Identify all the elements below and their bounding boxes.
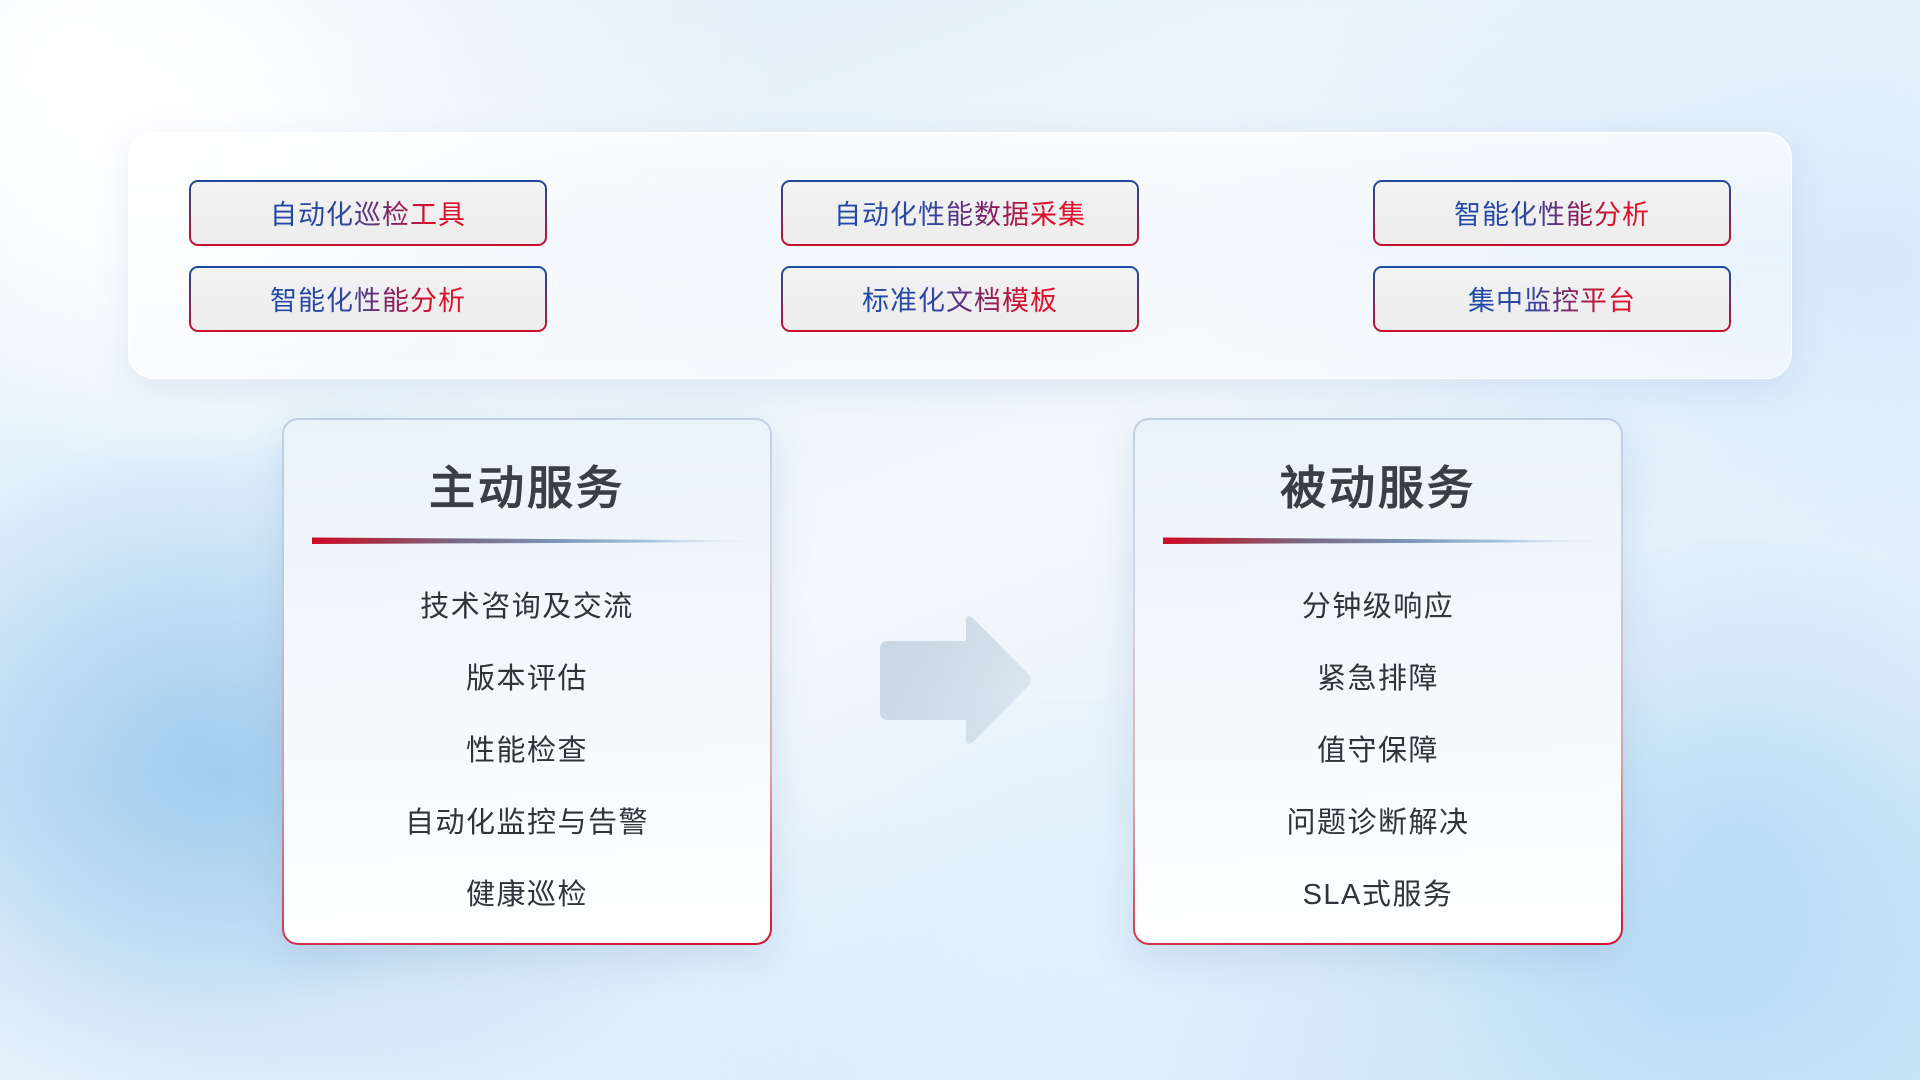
pill-surface: 自动化巡检工具 <box>191 182 545 244</box>
card-title: 主动服务 <box>429 452 625 518</box>
list-item: 性能检查 <box>466 715 588 787</box>
capability-row-1: 自动化巡检工具 自动化性能数据采集 智能化性能分析 <box>189 180 1731 246</box>
list-item: 紧急排障 <box>1317 643 1439 715</box>
list-item: 值守保障 <box>1317 715 1439 787</box>
list-item: 版本评估 <box>466 643 588 715</box>
capability-pill-label: 智能化性能分析 <box>270 279 466 318</box>
card-item-list: 技术咨询及交流 版本评估 性能检查 自动化监控与告警 健康巡检 <box>284 571 770 931</box>
capability-pill-label: 自动化巡检工具 <box>270 193 466 232</box>
capability-row-2: 智能化性能分析 标准化文档模板 集中监控平台 <box>189 266 1731 332</box>
pill-surface: 集中监控平台 <box>1375 268 1729 330</box>
pill-surface: 标准化文档模板 <box>783 268 1137 330</box>
pill-surface: 智能化性能分析 <box>1375 182 1729 244</box>
pill-surface: 智能化性能分析 <box>191 268 545 330</box>
list-item: 自动化监控与告警 <box>405 787 649 859</box>
card-surface: 被动服务 <box>1135 420 1621 943</box>
service-card-proactive[interactable]: 主动服务 <box>282 418 772 945</box>
card-title-divider <box>1163 536 1593 545</box>
card-surface: 主动服务 <box>284 420 770 943</box>
capability-pill-intelligent-performance-analysis-2[interactable]: 智能化性能分析 <box>189 266 547 332</box>
arrow-right-icon <box>872 613 1034 749</box>
capability-pill-label: 标准化文档模板 <box>862 279 1058 318</box>
capability-pill-label: 集中监控平台 <box>1468 279 1636 318</box>
capability-pill-label: 智能化性能分析 <box>1454 193 1650 232</box>
capability-pill-automated-performance-data-collection[interactable]: 自动化性能数据采集 <box>781 180 1139 246</box>
list-item: 分钟级响应 <box>1302 571 1455 643</box>
list-item: SLA式服务 <box>1303 859 1454 931</box>
capability-pill-centralized-monitoring-platform[interactable]: 集中监控平台 <box>1373 266 1731 332</box>
card-item-list: 分钟级响应 紧急排障 值守保障 问题诊断解决 SLA式服务 <box>1135 571 1621 931</box>
capability-pill-intelligent-performance-analysis[interactable]: 智能化性能分析 <box>1373 180 1731 246</box>
list-item: 问题诊断解决 <box>1286 787 1469 859</box>
infographic-stage: 自动化巡检工具 自动化性能数据采集 智能化性能分析 智能化性能分析 <box>0 0 1920 1080</box>
capability-pill-label: 自动化性能数据采集 <box>834 193 1086 232</box>
service-card-reactive[interactable]: 被动服务 <box>1133 418 1623 945</box>
list-item: 健康巡检 <box>466 859 588 931</box>
capability-pill-automated-inspection-tool[interactable]: 自动化巡检工具 <box>189 180 547 246</box>
capability-panel: 自动化巡检工具 自动化性能数据采集 智能化性能分析 智能化性能分析 <box>128 132 1792 379</box>
card-title: 被动服务 <box>1280 452 1476 518</box>
capability-pill-standardized-document-template[interactable]: 标准化文档模板 <box>781 266 1139 332</box>
card-title-divider <box>312 536 742 545</box>
pill-surface: 自动化性能数据采集 <box>783 182 1137 244</box>
list-item: 技术咨询及交流 <box>420 571 634 643</box>
